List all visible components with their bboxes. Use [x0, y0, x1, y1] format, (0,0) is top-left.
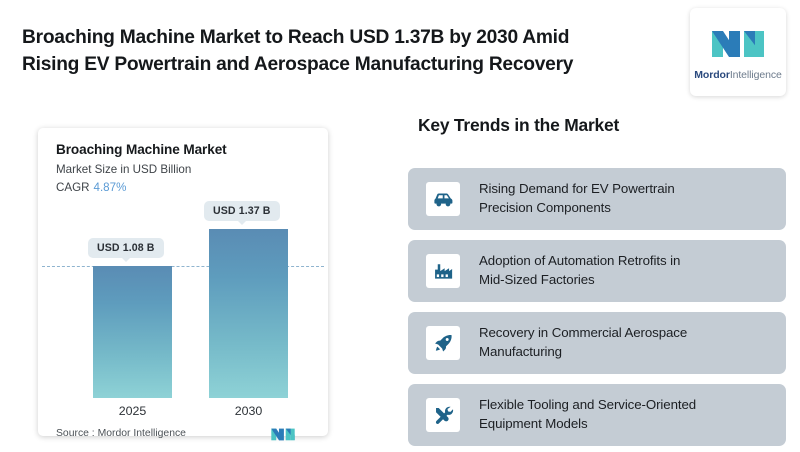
- x-axis-label-2025: 2025: [93, 404, 172, 418]
- mordor-logo-mark: [710, 23, 766, 63]
- market-chart-card: Broaching Machine Market Market Size in …: [38, 128, 328, 436]
- logo-wordmark: MordorIntelligence: [694, 69, 781, 81]
- factory-icon: [426, 254, 460, 288]
- trend-line-2: Equipment Models: [479, 415, 696, 434]
- headline-line-1: Broaching Machine Market to Reach USD 1.…: [22, 24, 662, 51]
- trend-line-1: Recovery in Commercial Aerospace: [479, 324, 687, 343]
- logo-word-intelligence: Intelligence: [730, 69, 782, 81]
- bar-value-label-2030: USD 1.37 B: [204, 201, 280, 221]
- chart-title: Broaching Machine Market: [56, 142, 227, 157]
- trend-item-flexible-tooling[interactable]: Flexible Tooling and Service-Oriented Eq…: [408, 384, 786, 446]
- trend-line-1: Flexible Tooling and Service-Oriented: [479, 396, 696, 415]
- trend-line-2: Mid-Sized Factories: [479, 271, 680, 290]
- trend-item-text: Flexible Tooling and Service-Oriented Eq…: [479, 396, 696, 434]
- bar-2025: [93, 266, 172, 398]
- trend-line-1: Adoption of Automation Retrofits in: [479, 252, 680, 271]
- trend-item-text: Rising Demand for EV Powertrain Precisio…: [479, 180, 675, 218]
- key-trends-title: Key Trends in the Market: [418, 115, 619, 136]
- logo-word-mordor: Mordor: [694, 69, 730, 81]
- trend-line-2: Precision Components: [479, 199, 675, 218]
- chart-cagr: CAGR4.87%: [56, 181, 126, 194]
- brand-logo: MordorIntelligence: [690, 8, 786, 96]
- chart-subtitle: Market Size in USD Billion: [56, 163, 191, 176]
- x-axis-label-2030: 2030: [209, 404, 288, 418]
- trend-item-text: Recovery in Commercial Aerospace Manufac…: [479, 324, 687, 362]
- bar-value-label-2025: USD 1.08 B: [88, 238, 164, 258]
- bar-2030: [209, 229, 288, 398]
- trend-item-text: Adoption of Automation Retrofits in Mid-…: [479, 252, 680, 290]
- cagr-label: CAGR: [56, 181, 90, 194]
- page-headline: Broaching Machine Market to Reach USD 1.…: [22, 24, 662, 79]
- trend-item-ev-powertrain[interactable]: Rising Demand for EV Powertrain Precisio…: [408, 168, 786, 230]
- source-logo-icon: [270, 425, 296, 443]
- trend-item-aerospace-recovery[interactable]: Recovery in Commercial Aerospace Manufac…: [408, 312, 786, 374]
- headline-line-2: Rising EV Powertrain and Aerospace Manuf…: [22, 51, 662, 78]
- rocket-icon: [426, 326, 460, 360]
- trend-line-2: Manufacturing: [479, 343, 687, 362]
- trend-line-1: Rising Demand for EV Powertrain: [479, 180, 675, 199]
- chart-plot-area: USD 1.08 B USD 1.37 B: [38, 200, 328, 398]
- cagr-value: 4.87%: [94, 181, 127, 194]
- car-icon: [426, 182, 460, 216]
- chart-source: Source : Mordor Intelligence: [56, 428, 186, 439]
- tools-icon: [426, 398, 460, 432]
- trend-item-automation-retrofits[interactable]: Adoption of Automation Retrofits in Mid-…: [408, 240, 786, 302]
